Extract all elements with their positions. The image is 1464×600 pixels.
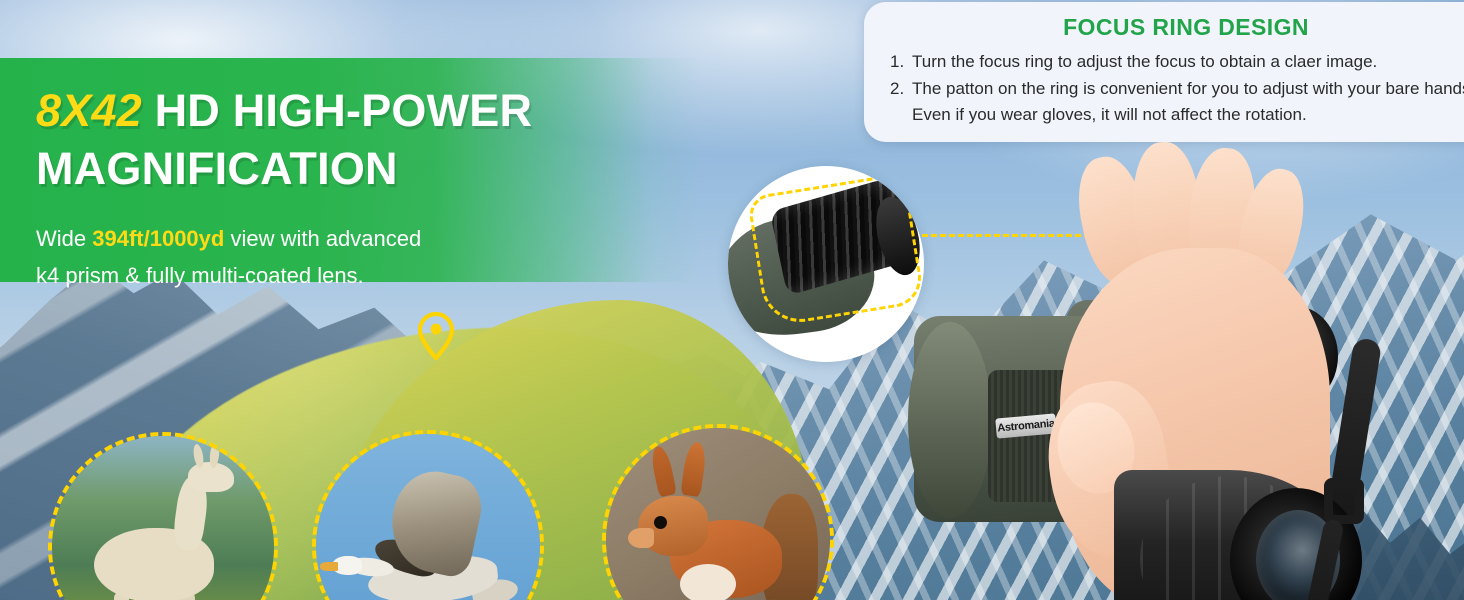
objective-lens-housing: [908, 322, 992, 518]
squirrel-chest: [680, 564, 736, 600]
squirrel-ear: [649, 445, 677, 498]
subtitle-line-2: k4 prism & fully multi-coated lens.: [36, 263, 364, 288]
goose-beak: [320, 562, 338, 571]
focus-ring-zoom-inset: [728, 166, 924, 362]
list-item-number: 1.: [890, 49, 912, 75]
callout-title: FOCUS RING DESIGN: [890, 14, 1464, 41]
headline-banner: 8X42 HD HIGH-POWER MAGNIFICATION Wide 39…: [0, 58, 700, 282]
headline-magnification: 8X42: [36, 85, 142, 136]
list-item: 1.Turn the focus ring to adjust the focu…: [890, 49, 1464, 75]
brand-name: Astromania: [997, 418, 1055, 435]
squirrel-eye: [654, 516, 667, 529]
list-item-number: 2.: [890, 76, 912, 102]
squirrel-snout: [628, 528, 654, 548]
callout-list: 1.Turn the focus ring to adjust the focu…: [890, 49, 1464, 128]
subtitle-suffix: view with advanced: [224, 226, 421, 251]
headline-line-1: HD HIGH-POWER: [142, 85, 532, 136]
list-item-text: Turn the focus ring to adjust the focus …: [912, 52, 1377, 71]
subtitle-fov-value: 394ft/1000yd: [92, 226, 224, 251]
squirrel-ear: [680, 441, 707, 497]
headline-subtitle: Wide 394ft/1000yd view with advanced k4 …: [36, 220, 676, 294]
headline-line-2: MAGNIFICATION: [36, 143, 398, 194]
list-item-text: The patton on the ring is convenient for…: [912, 79, 1464, 124]
map-pin-marker: [418, 312, 454, 360]
product-marketing-banner: 8X42 HD HIGH-POWER MAGNIFICATION Wide 39…: [0, 0, 1464, 600]
strap-loop: [1324, 478, 1364, 524]
highlight-outline: [747, 172, 924, 327]
page-title: 8X42 HD HIGH-POWER MAGNIFICATION: [36, 82, 676, 198]
product-photo: WATER PROOF 8x42 NITROGEN FILLED Astroma…: [900, 120, 1464, 600]
subtitle-prefix: Wide: [36, 226, 92, 251]
